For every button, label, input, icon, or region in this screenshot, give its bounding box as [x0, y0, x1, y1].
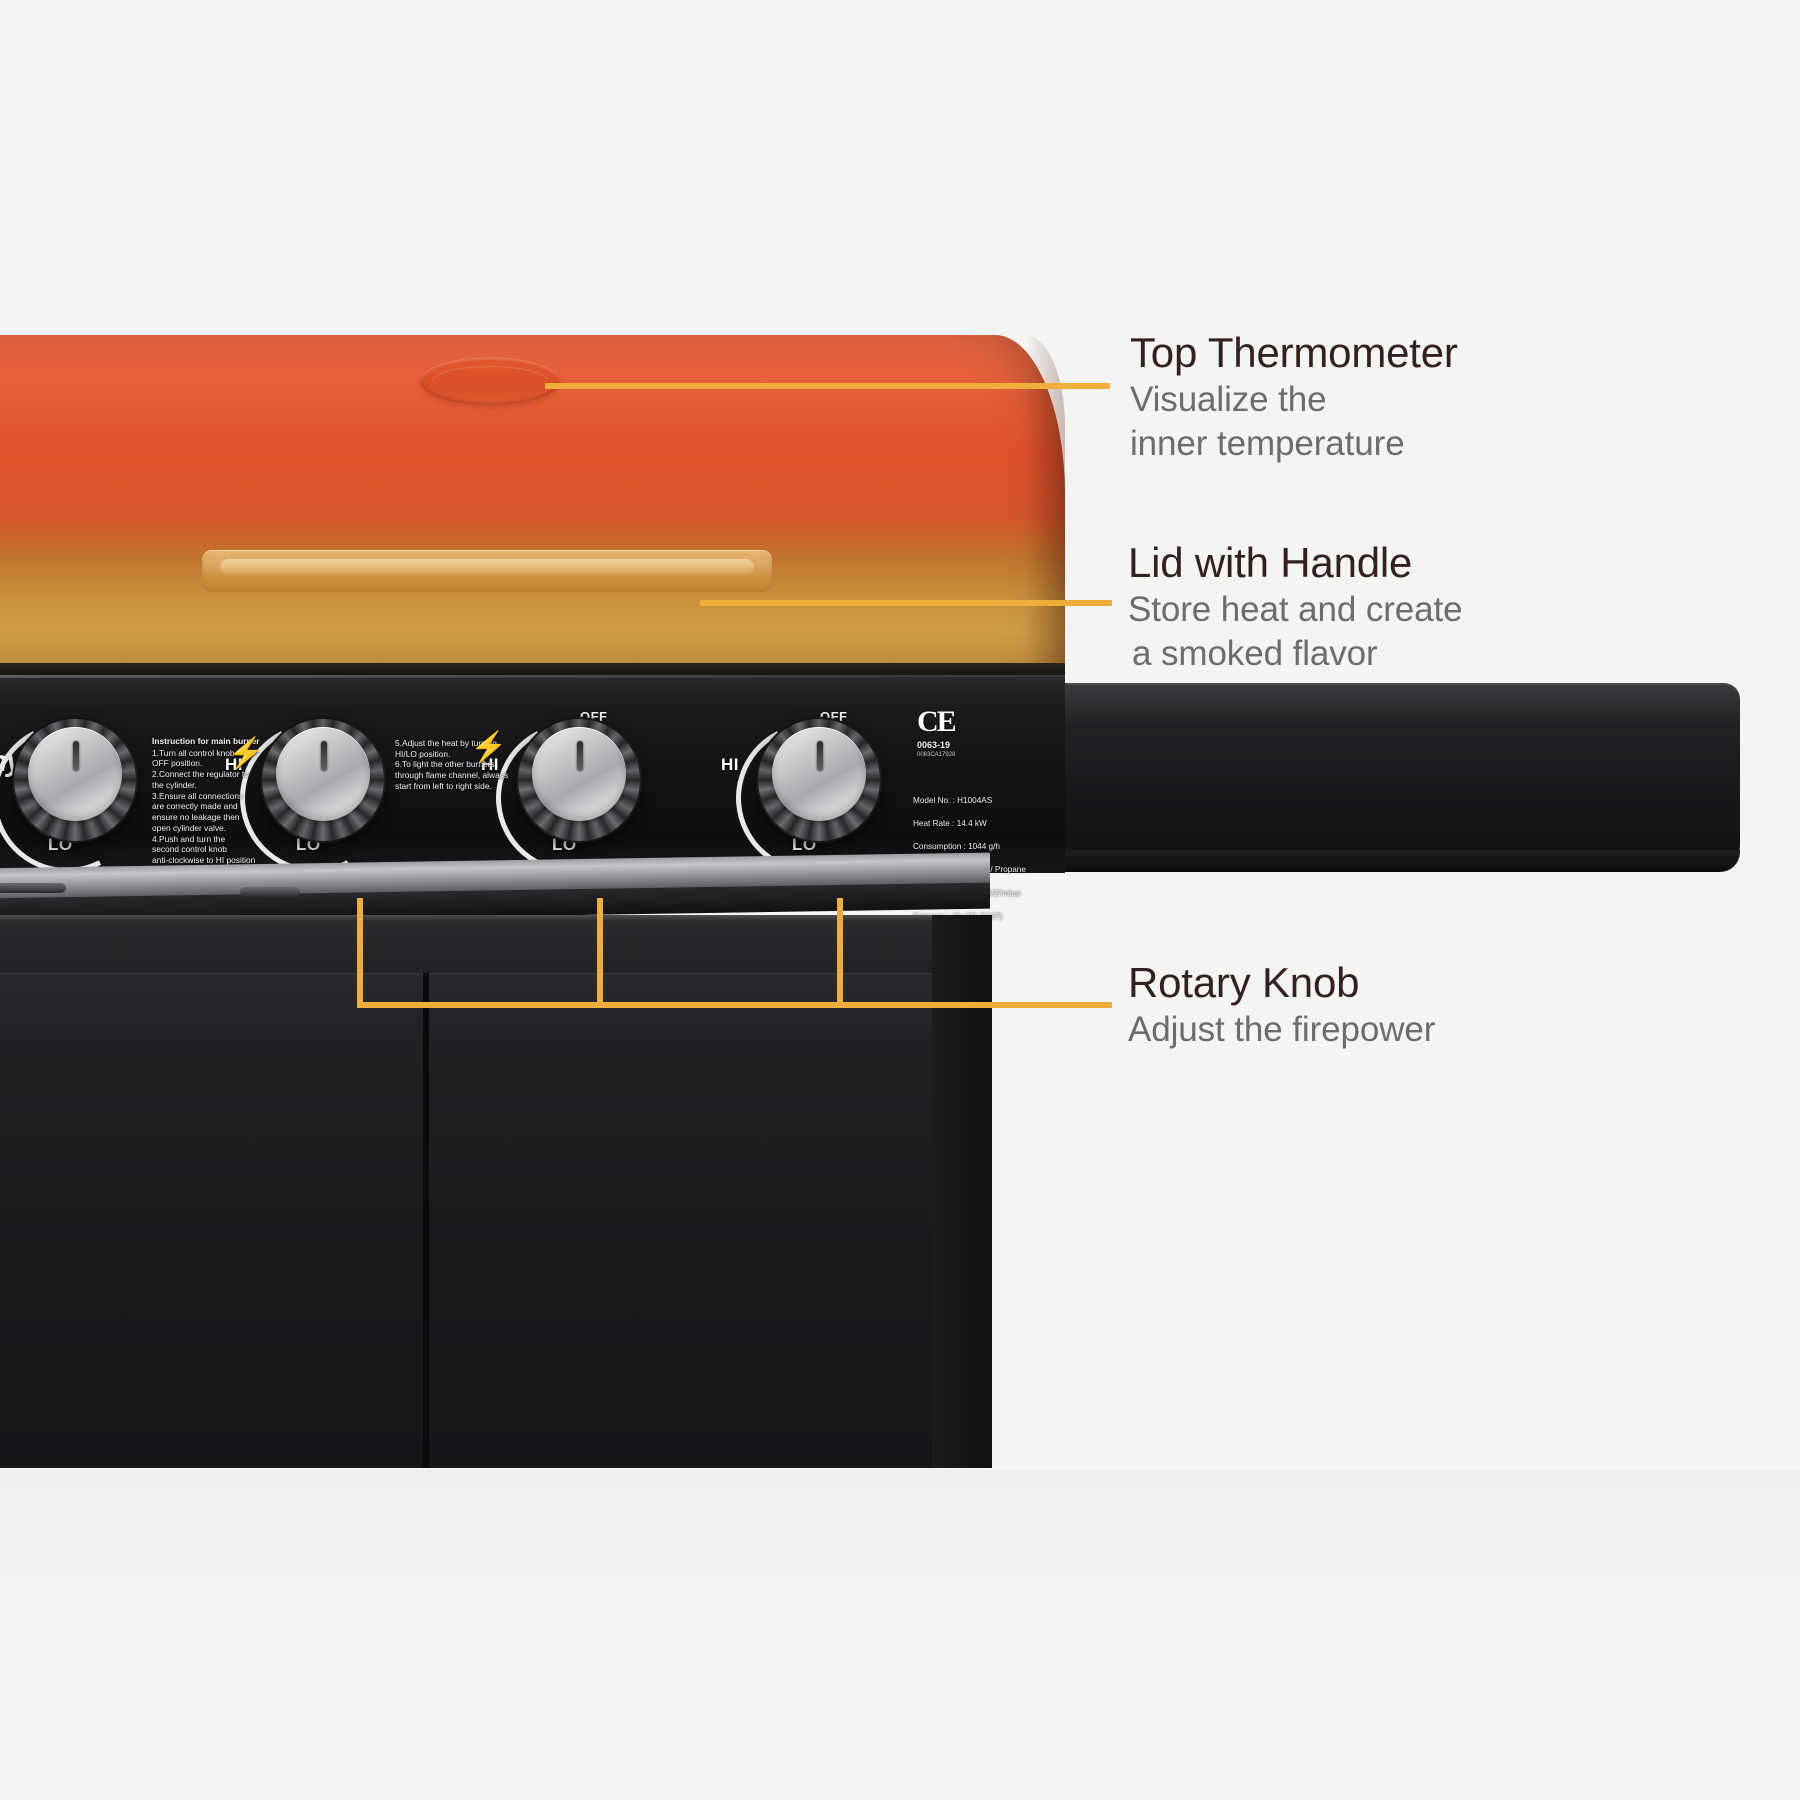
warning-text: …and… is easy. use gloves during use. …a… [0, 783, 2, 837]
knob-3-pointer [577, 741, 583, 771]
lid-handle [202, 550, 772, 592]
cabinet-body [0, 915, 992, 1468]
rotary-knob-3[interactable] [516, 717, 642, 843]
leader-line-lid-handle [700, 600, 1112, 606]
burner-tube-1 [0, 883, 66, 893]
cabinet-door-right[interactable] [429, 973, 932, 1468]
infographic-canvas: EASY TEMPERATURE CONTROL [0, 0, 1800, 1800]
knob-1-cap [28, 727, 122, 821]
lower-band [0, 1470, 1800, 1800]
knob-3-cap [532, 727, 626, 821]
callout-body-lid-line1: Store heat and create [1128, 589, 1463, 630]
side-shelf-lip [980, 850, 1740, 872]
cabinet-right-column [932, 915, 992, 1468]
spec-heat-rate: Heat Rate : 14.4 kW [913, 818, 1026, 830]
burner-tube-2 [240, 887, 300, 897]
ce-number: 0063-19 [917, 740, 955, 750]
leader-line-thermometer [545, 383, 1110, 389]
ce-rating-plate: CE 0063-19 0063CA17928 [917, 707, 955, 758]
product-photo: Outsunny® HI LO HI LO [0, 0, 1800, 1468]
callout-top-thermometer: Top Thermometer Visualize the inner temp… [1130, 330, 1458, 464]
callout-body-thermometer-line2: inner temperature [1130, 423, 1458, 464]
rotary-knob-1[interactable] [12, 717, 138, 843]
knob-2-pointer [321, 741, 327, 771]
side-shelf [980, 683, 1740, 868]
ce-mark: CE [917, 707, 955, 737]
leader-line-rotary-knob [357, 1002, 1112, 1008]
callout-heading-thermometer: Top Thermometer [1130, 330, 1458, 375]
callout-body-thermometer-line1: Visualize the [1130, 379, 1458, 420]
knob-4-hi-label: HI [721, 755, 739, 775]
callout-heading-lid: Lid with Handle [1128, 540, 1463, 585]
callout-body-knob-line1: Adjust the firepower [1128, 1009, 1435, 1050]
spark-icon-1: ⚡ [227, 739, 264, 769]
panel-highlight [0, 675, 1065, 678]
gas-grill: Outsunny® HI LO HI LO [0, 335, 1070, 1468]
callout-rotary-knob: Rotary Knob Adjust the firepower [1128, 960, 1435, 1051]
cabinet-top-edge [0, 915, 992, 921]
rotary-knob-4[interactable] [756, 717, 882, 843]
spec-model: Model No. : H1004AS [913, 795, 1026, 807]
knob-4-cap [772, 727, 866, 821]
leader-riser-knob-2 [597, 898, 603, 1008]
callout-heading-knob: Rotary Knob [1128, 960, 1435, 1005]
callout-lid-with-handle: Lid with Handle Store heat and create a … [1128, 540, 1463, 674]
knob-4-pointer [817, 741, 823, 771]
ce-sub-code: 0063CA17928 [917, 752, 955, 758]
leader-riser-knob-1 [357, 898, 363, 1008]
burner-instructions-right: 5.Adjust the heat by turning HI/LO posit… [395, 727, 530, 792]
leader-riser-knob-3 [837, 898, 843, 1008]
spec-consumption: Consumption : 1044 g/h [913, 841, 1026, 853]
lid-handle-core [220, 559, 754, 575]
top-thermometer-mount [420, 357, 560, 405]
cabinet-door-left[interactable] [0, 973, 423, 1468]
spark-icon-2: ⚡ [470, 733, 507, 763]
knob-1-pointer [73, 741, 79, 771]
callout-body-lid-line2: a smoked flavor [1132, 633, 1463, 674]
